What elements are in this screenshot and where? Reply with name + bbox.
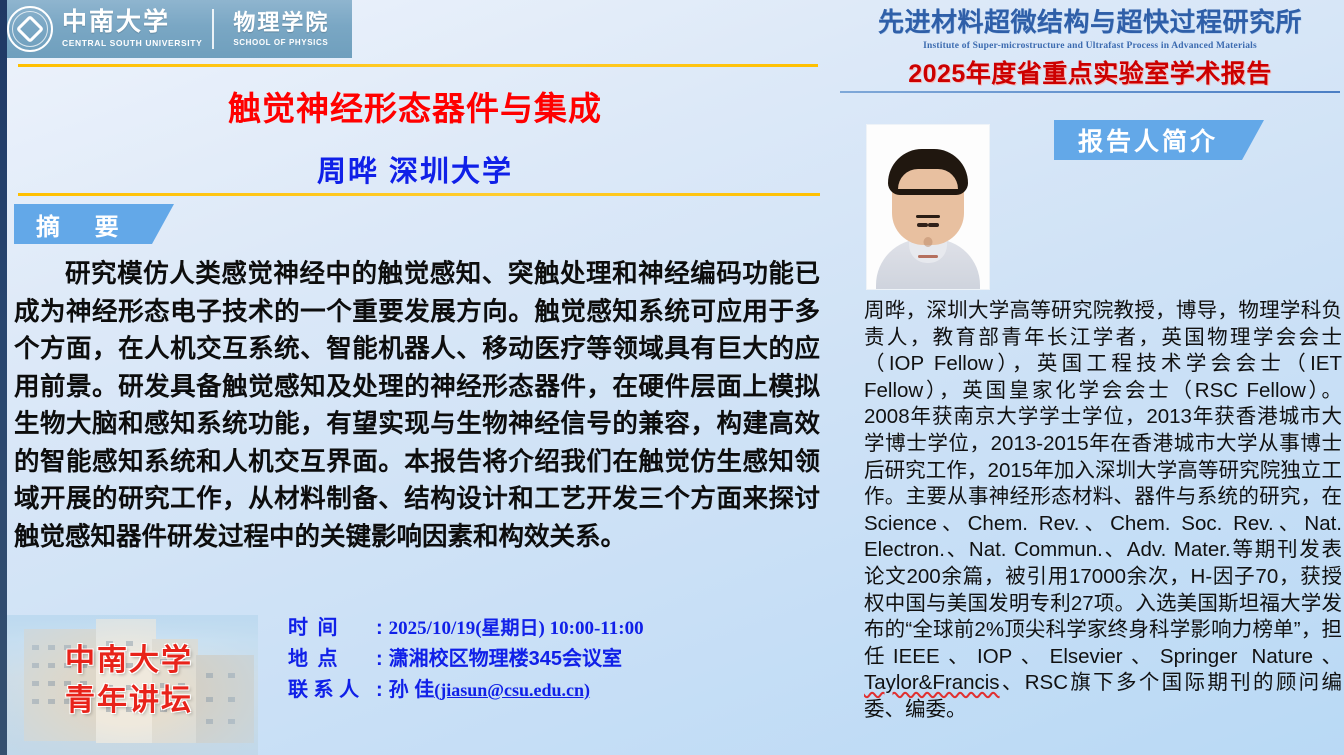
portrait-eye-left: [928, 223, 939, 227]
event-place-value: 潇湘校区物理楼345会议室: [389, 644, 622, 675]
forum-title: 中南大学 青年讲坛: [0, 641, 258, 721]
school-name-en: SCHOOL OF PHYSICS: [233, 39, 329, 47]
university-name-block: 中南大学 CENTRAL SOUTH UNIVERSITY: [62, 10, 202, 48]
event-place-colon: :: [376, 644, 383, 675]
gold-divider-top: [18, 64, 818, 67]
bio-badge: 报告人简介: [1054, 120, 1264, 160]
event-time-colon: :: [376, 613, 383, 644]
event-time-label: 时 间: [288, 613, 376, 644]
contact-email-link[interactable]: (jiasun@csu.edu.cn): [434, 675, 590, 706]
abstract-badge: 摘 要: [14, 204, 174, 244]
talk-speaker: 周晔 深圳大学: [0, 148, 830, 190]
portrait-mouth: [918, 255, 938, 258]
gold-divider-middle: [18, 193, 820, 196]
event-details: 时 间 : 2025/10/19(星期日) 10:00-11:00 地 点 : …: [288, 613, 644, 706]
portrait-nose: [924, 237, 933, 247]
portrait-eye-right: [917, 223, 928, 227]
university-name-en: CENTRAL SOUTH UNIVERSITY: [62, 39, 202, 48]
portrait-eyebrow-right: [916, 215, 930, 218]
seal-knot-shape: [16, 15, 44, 43]
event-place-row: 地 点 : 潇湘校区物理楼345会议室: [288, 644, 644, 675]
event-time-row: 时 间 : 2025/10/19(星期日) 10:00-11:00: [288, 613, 644, 644]
talk-title: 触觉神经形态器件与集成: [0, 82, 830, 130]
left-edge-stripe: [0, 0, 7, 755]
institute-header: 先进材料超微结构与超快过程研究所 Institute of Super-micr…: [840, 2, 1340, 93]
event-place-label: 地 点: [288, 644, 376, 675]
institute-name-en: Institute of Super-microstructure and Ul…: [840, 41, 1340, 51]
event-contact-name: 孙 佳: [389, 675, 435, 706]
forum-title-line2: 青年讲坛: [0, 681, 258, 721]
series-title: 2025年度省重点实验室学术报告: [840, 54, 1340, 90]
university-name-cn: 中南大学: [62, 10, 202, 35]
logo-divider: [212, 9, 214, 49]
bio-text: 周晔，深圳大学高等研究院教授，博导，物理学科负责人，教育部青年长江学者，英国物理…: [864, 298, 1342, 724]
forum-title-line1: 中南大学: [0, 641, 258, 681]
event-time-value: 2025/10/19(星期日) 10:00-11:00: [389, 613, 644, 644]
university-seal-icon: [7, 6, 53, 52]
bio-text-part1: 周晔，深圳大学高等研究院教授，博导，物理学科负责人，教育部青年长江学者，英国物理…: [864, 299, 1342, 668]
bio-misspelled-word: Taylor&Francis: [864, 671, 1000, 694]
abstract-body: 研究模仿人类感觉神经中的触觉感知、突触处理和神经编码功能已成为神经形态电子技术的…: [14, 256, 820, 556]
institute-name-cn: 先进材料超微结构与超快过程研究所: [840, 2, 1340, 39]
event-contact-row: 联 系 人 : 孙 佳 (jiasun@csu.edu.cn): [288, 675, 644, 706]
school-name-cn: 物理学院: [233, 12, 329, 34]
event-contact-label: 联 系 人: [288, 675, 376, 706]
school-name-block: 物理学院 SCHOOL OF PHYSICS: [233, 12, 329, 47]
institute-underline: [840, 91, 1340, 93]
youth-forum-logo: 中南大学 青年讲坛: [0, 615, 258, 755]
speaker-portrait: [866, 124, 990, 290]
event-contact-colon: :: [376, 675, 383, 706]
university-logo-bar: 中南大学 CENTRAL SOUTH UNIVERSITY 物理学院 SCHOO…: [0, 0, 352, 58]
